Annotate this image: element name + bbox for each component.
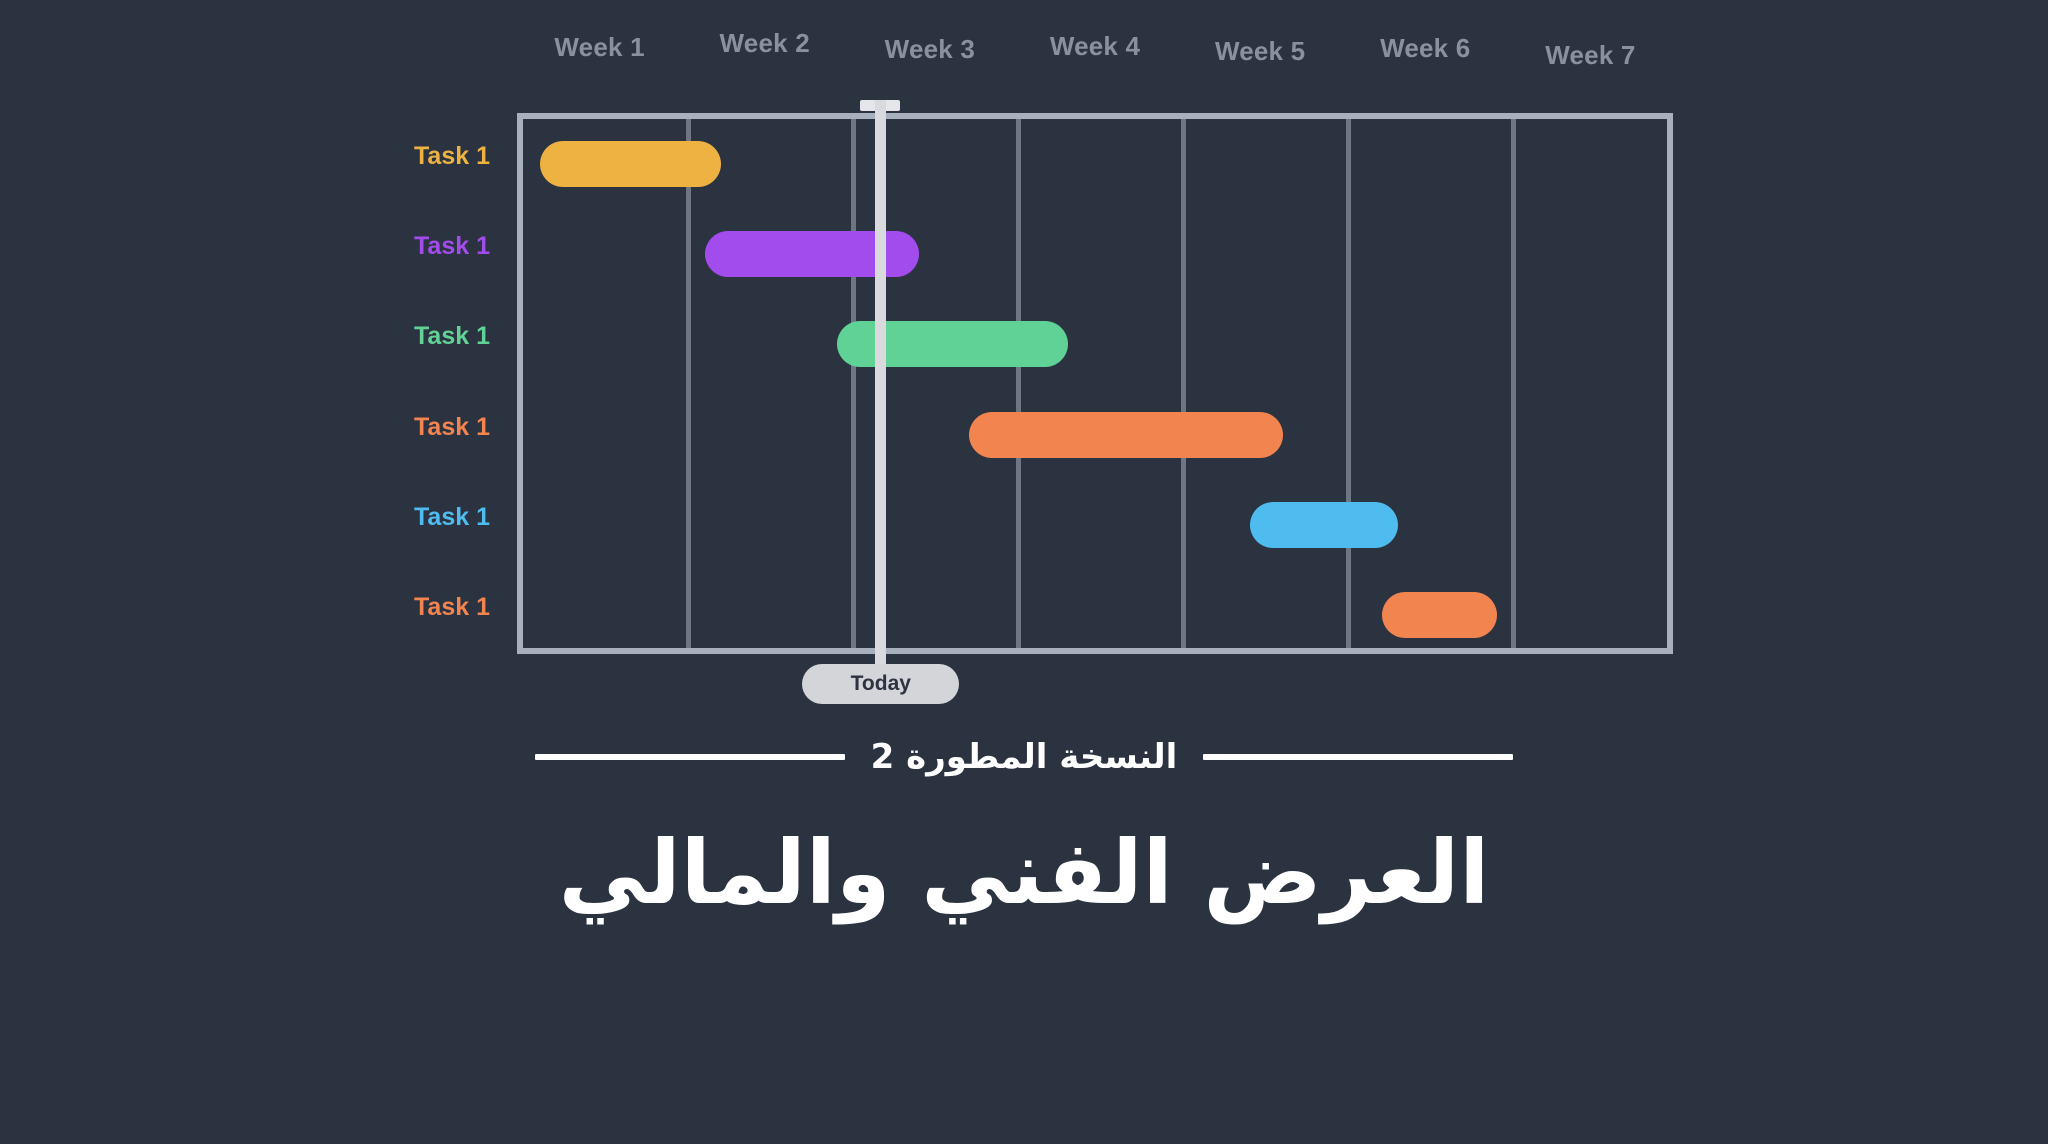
gantt-chart: Week 1Week 2Week 3Week 4Week 5Week 6Week…: [0, 0, 2048, 700]
task-label-6: Task 1: [250, 593, 490, 622]
gridline-5: [1346, 119, 1351, 648]
task-label-1: Task 1: [250, 142, 490, 171]
week-label-2: Week 2: [682, 28, 847, 59]
subtitle-row: النسخة المطورة 2: [0, 727, 2048, 787]
week-label-6: Week 6: [1343, 33, 1508, 64]
page-title: العرض الفني والمالي: [0, 818, 2048, 928]
slide-canvas: Week 1Week 2Week 3Week 4Week 5Week 6Week…: [0, 0, 2048, 1144]
subtitle-text: النسخة المطورة 2: [871, 737, 1178, 777]
gantt-bar-2[interactable]: [705, 231, 920, 277]
gridline-4: [1181, 119, 1186, 648]
gantt-plot-frame: [517, 113, 1673, 654]
week-label-7: Week 7: [1508, 40, 1673, 71]
week-label-3: Week 3: [847, 34, 1012, 65]
subtitle-rule-left: [535, 754, 845, 760]
gantt-bar-5[interactable]: [1250, 502, 1399, 548]
task-label-5: Task 1: [250, 503, 490, 532]
gantt-bar-6[interactable]: [1382, 592, 1498, 638]
week-label-4: Week 4: [1012, 31, 1177, 62]
task-label-3: Task 1: [250, 322, 490, 351]
gridline-6: [1511, 119, 1516, 648]
today-marker-line: [875, 100, 886, 665]
gantt-bar-3[interactable]: [837, 321, 1068, 367]
gantt-plot-area: [523, 119, 1667, 648]
gridline-3: [1016, 119, 1021, 648]
week-label-5: Week 5: [1178, 36, 1343, 67]
week-label-1: Week 1: [517, 32, 682, 63]
gantt-bar-4[interactable]: [969, 412, 1283, 458]
gantt-bar-1[interactable]: [540, 141, 722, 187]
task-label-2: Task 1: [250, 232, 490, 261]
week-header-row: Week 1Week 2Week 3Week 4Week 5Week 6Week…: [517, 28, 1673, 98]
gridline-1: [686, 119, 691, 648]
today-badge: Today: [802, 664, 959, 704]
gridline-2: [851, 119, 856, 648]
task-label-column: Task 1Task 1Task 1Task 1Task 1Task 1: [140, 113, 490, 654]
task-label-4: Task 1: [250, 413, 490, 442]
subtitle-rule-right: [1203, 754, 1513, 760]
